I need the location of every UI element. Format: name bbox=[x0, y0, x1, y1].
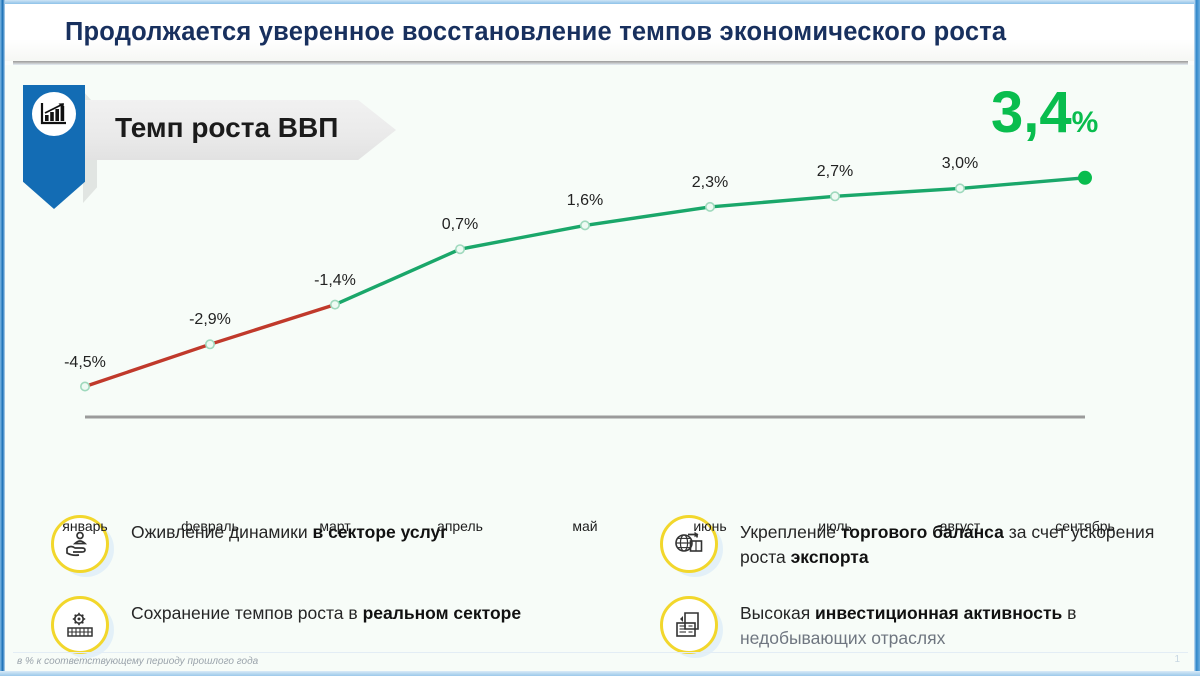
chart-month-label: январь bbox=[62, 518, 107, 534]
footnote: в % к соответствующему периоду прошлого … bbox=[17, 656, 258, 667]
chart-line-positive-segment bbox=[335, 178, 1085, 305]
chart-month-label: февраль bbox=[181, 518, 239, 534]
title-band: Продолжается уверенное восстановление те… bbox=[5, 4, 1194, 61]
chart-point-label: 1,6% bbox=[567, 192, 603, 210]
hero-value-number: 3,4 bbox=[991, 80, 1072, 145]
chart-month-label: март bbox=[319, 518, 350, 534]
chart-month-label: сентябрь bbox=[1055, 518, 1115, 534]
chart-point-label: 2,3% bbox=[692, 174, 728, 192]
chart-heading-label: Темп роста ВВП bbox=[115, 112, 338, 144]
hero-value: 3,4% bbox=[991, 84, 1098, 142]
bullet-text: Сохранение темпов роста в реальном секто… bbox=[131, 596, 521, 626]
bullet-text: Высокая инвестиционная активность в недо… bbox=[740, 596, 1160, 651]
slide-border-right bbox=[1194, 0, 1200, 676]
bar-chart-growth-icon bbox=[32, 92, 76, 136]
chart-point-marker bbox=[831, 192, 839, 200]
bullet-text-run: Высокая bbox=[740, 603, 815, 623]
chart-point-label: -1,4% bbox=[314, 272, 356, 290]
chart-month-label: август bbox=[940, 518, 981, 534]
chart-point-marker bbox=[331, 300, 339, 308]
chart-month-label: апрель bbox=[437, 518, 483, 534]
bullet-item: Сохранение темпов роста в реальном секто… bbox=[51, 596, 621, 654]
bullet-text-run: инвестиционная активность bbox=[815, 603, 1062, 623]
bullet-text-run: в bbox=[1062, 603, 1076, 623]
slide-root: Продолжается уверенное восстановление те… bbox=[0, 0, 1200, 676]
chart-point-marker bbox=[81, 382, 89, 390]
slide-border-bottom bbox=[0, 671, 1200, 676]
document-report-icon bbox=[660, 596, 718, 654]
bullet-text-run: экспорта bbox=[791, 547, 869, 567]
chart-point-marker bbox=[206, 340, 214, 348]
chart-month-label: июль bbox=[818, 518, 851, 534]
chart-point-marker bbox=[456, 245, 464, 253]
hero-value-percent: % bbox=[1072, 106, 1099, 139]
bullet-item: Высокая инвестиционная активность в недо… bbox=[660, 596, 1160, 654]
chart-point-marker bbox=[581, 221, 589, 229]
page-number: 1 bbox=[1174, 654, 1180, 665]
bullet-text-run: реальном секторе bbox=[363, 603, 522, 623]
footer-divider bbox=[13, 652, 1188, 653]
chart-month-label: июнь bbox=[693, 518, 726, 534]
slide-content: Продолжается уверенное восстановление те… bbox=[5, 4, 1194, 671]
bullet-text-run: недобывающих отраслях bbox=[740, 628, 945, 648]
chart-point-marker bbox=[956, 184, 964, 192]
chart-point-marker bbox=[706, 203, 714, 211]
chart-point-marker bbox=[1079, 172, 1091, 184]
chart-month-label: май bbox=[572, 518, 597, 534]
gear-factory-icon bbox=[51, 596, 109, 654]
bullet-text: Оживление динамики в секторе услуг bbox=[131, 515, 448, 545]
chart-point-label: 0,7% bbox=[442, 216, 478, 234]
chart-point-label: -2,9% bbox=[189, 311, 231, 329]
chart-point-label: 2,7% bbox=[817, 163, 853, 181]
bullet-text-run: Сохранение темпов роста в bbox=[131, 603, 363, 623]
chart-point-label: 3,0% bbox=[942, 155, 978, 173]
page-title: Продолжается уверенное восстановление те… bbox=[65, 18, 1155, 47]
chart-point-label: -4,5% bbox=[64, 354, 106, 372]
